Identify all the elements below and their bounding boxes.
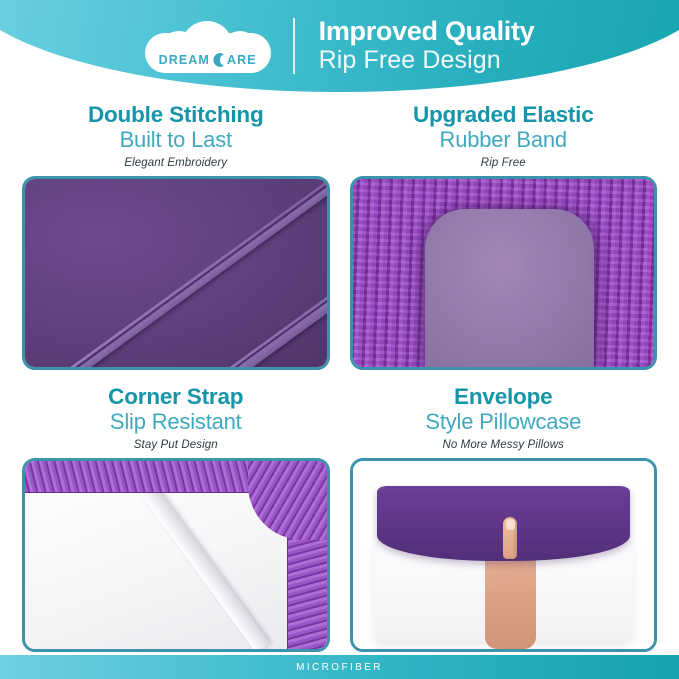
header-subtitle: Rip Free Design xyxy=(319,46,535,75)
panel-subtitle: Rubber Band xyxy=(350,127,658,153)
panel-image-double-stitching xyxy=(22,176,330,370)
panel-title: Envelope xyxy=(350,384,658,409)
feature-panel-corner-strap: Corner Strap Slip Resistant Stay Put Des… xyxy=(22,378,330,652)
panel-titles: Corner Strap Slip Resistant Stay Put Des… xyxy=(22,378,330,451)
feature-panel-double-stitching: Double Stitching Built to Last Elegant E… xyxy=(22,96,330,370)
dream-care-logo: DREAM ARE xyxy=(145,19,271,73)
logo-word-are: ARE xyxy=(227,53,257,67)
panel-titles: Double Stitching Built to Last Elegant E… xyxy=(22,96,330,169)
panel-subtitle: Built to Last xyxy=(22,127,330,153)
panel-titles: Envelope Style Pillowcase No More Messy … xyxy=(350,378,658,451)
panel-subtitle: Style Pillowcase xyxy=(350,409,658,435)
footer-bar: MICROFIBER xyxy=(0,655,679,679)
feature-panel-upgraded-elastic: Upgraded Elastic Rubber Band Rip Free xyxy=(350,96,658,370)
panel-image-corner-strap xyxy=(22,458,330,652)
feature-grid: Double Stitching Built to Last Elegant E… xyxy=(0,96,679,652)
crescent-moon-icon xyxy=(212,53,225,67)
panel-caption: Elegant Embroidery xyxy=(22,157,330,169)
panel-title: Double Stitching xyxy=(22,102,330,127)
panel-image-envelope-pillowcase xyxy=(350,458,658,652)
panel-subtitle: Slip Resistant xyxy=(22,409,330,435)
logo-wordmark: DREAM ARE xyxy=(145,53,271,67)
footer-label: MICROFIBER xyxy=(296,662,383,673)
panel-caption: No More Messy Pillows xyxy=(350,439,658,451)
logo-word-dream: DREAM xyxy=(159,53,210,67)
header-divider xyxy=(293,18,295,74)
panel-caption: Stay Put Design xyxy=(22,439,330,451)
panel-image-elastic-corner xyxy=(350,176,658,370)
panel-title: Corner Strap xyxy=(22,384,330,409)
feature-panel-envelope-pillowcase: Envelope Style Pillowcase No More Messy … xyxy=(350,378,658,652)
panel-title: Upgraded Elastic xyxy=(350,102,658,127)
fabric-texture xyxy=(25,179,327,367)
header-title: Improved Quality xyxy=(319,17,535,45)
panel-titles: Upgraded Elastic Rubber Band Rip Free xyxy=(350,96,658,169)
panel-caption: Rip Free xyxy=(350,157,658,169)
sheet-flat-center xyxy=(425,209,594,367)
fingernail xyxy=(506,519,515,530)
header-banner: DREAM ARE Improved Quality Rip Free Desi… xyxy=(0,0,679,92)
